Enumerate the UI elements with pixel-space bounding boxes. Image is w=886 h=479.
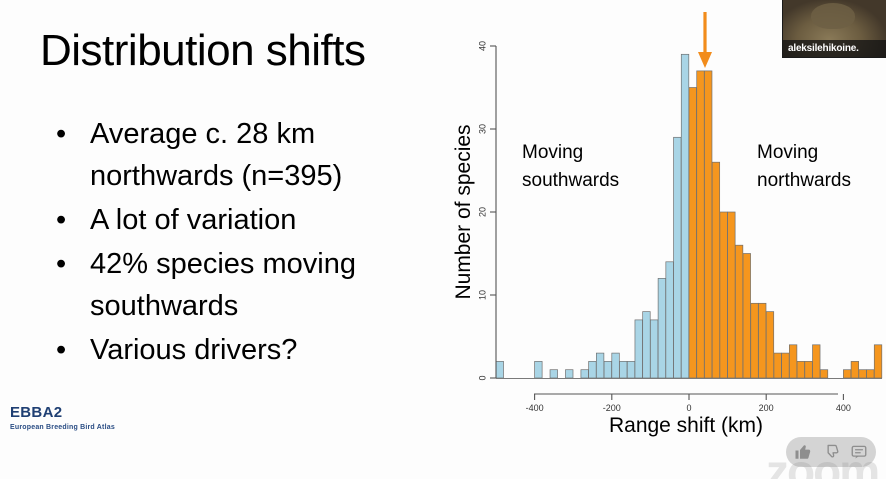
histogram-bar	[712, 162, 720, 378]
histogram-bar	[658, 278, 666, 378]
annotation-moving-northwards-line2: northwards	[757, 170, 851, 191]
histogram-bar	[496, 361, 504, 378]
histogram-bar	[666, 262, 674, 378]
x-axis-tick-label: -400	[526, 403, 544, 413]
histogram-bar	[728, 212, 736, 378]
histogram-bar	[843, 370, 851, 378]
y-axis-tick-label: 30	[477, 124, 487, 134]
list-item: • Average c. 28 km northwards (n=395)	[48, 113, 448, 197]
histogram-bar	[751, 303, 759, 378]
list-item: • 42% species moving southwards	[48, 243, 448, 327]
x-axis-title: Range shift (km)	[609, 414, 763, 437]
histogram-bar	[758, 303, 766, 378]
x-axis: -400-2000200400	[526, 394, 851, 413]
participant-name-label: aleksilehikoine.	[783, 40, 886, 57]
annotation-moving-northwards-line1: Moving	[757, 142, 818, 163]
bar-series	[496, 54, 882, 378]
histogram-bar	[635, 320, 643, 378]
histogram-bar	[535, 361, 543, 378]
bullet-marker-icon: •	[56, 329, 66, 371]
logo-name: EBBA2	[10, 405, 115, 422]
histogram-bar	[589, 361, 597, 378]
histogram-bar	[620, 361, 628, 378]
histogram-bar	[674, 137, 682, 378]
histogram-bar	[612, 353, 620, 378]
list-item-label: 42% species moving southwards	[90, 243, 448, 327]
histogram-bar	[735, 245, 743, 378]
x-axis-tick-label: 200	[759, 403, 774, 413]
histogram-bar	[774, 353, 782, 378]
y-axis: 010203040	[477, 41, 496, 381]
histogram-bar	[704, 71, 712, 378]
histogram-bar	[550, 370, 558, 378]
histogram-bar	[720, 212, 728, 378]
y-axis-title: Number of species	[452, 124, 475, 299]
bullet-marker-icon: •	[56, 199, 66, 241]
presentation-slide: Distribution shifts • Average c. 28 km n…	[0, 0, 886, 479]
list-item: • A lot of variation	[48, 199, 448, 241]
annotation-arrow-icon	[698, 12, 712, 68]
y-axis-tick-label: 10	[477, 290, 487, 300]
histogram-bar	[681, 54, 689, 378]
bullet-list: • Average c. 28 km northwards (n=395) • …	[48, 113, 448, 373]
histogram-bar	[604, 361, 612, 378]
histogram-bar	[867, 370, 875, 378]
histogram-bar	[851, 361, 859, 378]
histogram-bar	[766, 312, 774, 378]
histogram-bar	[820, 370, 828, 378]
bullet-marker-icon: •	[56, 113, 66, 155]
video-subject	[811, 3, 855, 29]
histogram-bar	[643, 312, 651, 378]
chat-icon[interactable]	[850, 443, 868, 461]
annotation-moving-southwards-line1: Moving	[522, 142, 583, 163]
histogram-bar	[874, 345, 882, 378]
chart-canvas: 010203040 -400-2000200400 Number of spec…	[450, 10, 886, 470]
slide-text-panel: Distribution shifts • Average c. 28 km n…	[0, 0, 460, 479]
x-axis-tick-label: 0	[686, 403, 691, 413]
histogram-bar	[797, 361, 805, 378]
histogram-bar	[859, 370, 867, 378]
reaction-bar[interactable]	[786, 437, 876, 467]
participant-video-tile[interactable]: aleksilehikoine.	[782, 0, 886, 58]
annotation-moving-southwards-line2: southwards	[522, 170, 619, 191]
list-item-label: Average c. 28 km northwards (n=395)	[90, 113, 448, 197]
x-axis-tick-label: 400	[836, 403, 851, 413]
thumbs-up-icon[interactable]	[794, 443, 812, 461]
list-item: • Various drivers?	[48, 329, 448, 371]
histogram-bar	[782, 353, 790, 378]
list-item-label: A lot of variation	[90, 199, 448, 241]
histogram-bar	[743, 254, 751, 379]
y-axis-tick-label: 20	[477, 207, 487, 217]
histogram-chart: 010203040 -400-2000200400 Number of spec…	[450, 10, 886, 470]
histogram-bar	[789, 345, 797, 378]
thumbs-down-icon[interactable]	[822, 443, 840, 461]
bullet-marker-icon: •	[56, 243, 66, 285]
logo-tagline: European Breeding Bird Atlas	[10, 424, 115, 431]
y-axis-tick-label: 40	[477, 41, 487, 51]
list-item-label: Various drivers?	[90, 329, 448, 371]
histogram-bar	[697, 71, 705, 378]
histogram-bar	[689, 88, 697, 379]
y-axis-tick-label: 0	[477, 375, 487, 380]
histogram-bar	[565, 370, 573, 378]
histogram-bar	[627, 361, 635, 378]
histogram-bar	[650, 320, 658, 378]
histogram-bar	[805, 361, 813, 378]
histogram-bar	[813, 345, 821, 378]
histogram-bar	[596, 353, 604, 378]
x-axis-tick-label: -200	[603, 403, 621, 413]
ebba2-logo: EBBA2 European Breeding Bird Atlas	[10, 405, 115, 431]
page-title: Distribution shifts	[40, 26, 366, 76]
histogram-bar	[581, 370, 589, 378]
